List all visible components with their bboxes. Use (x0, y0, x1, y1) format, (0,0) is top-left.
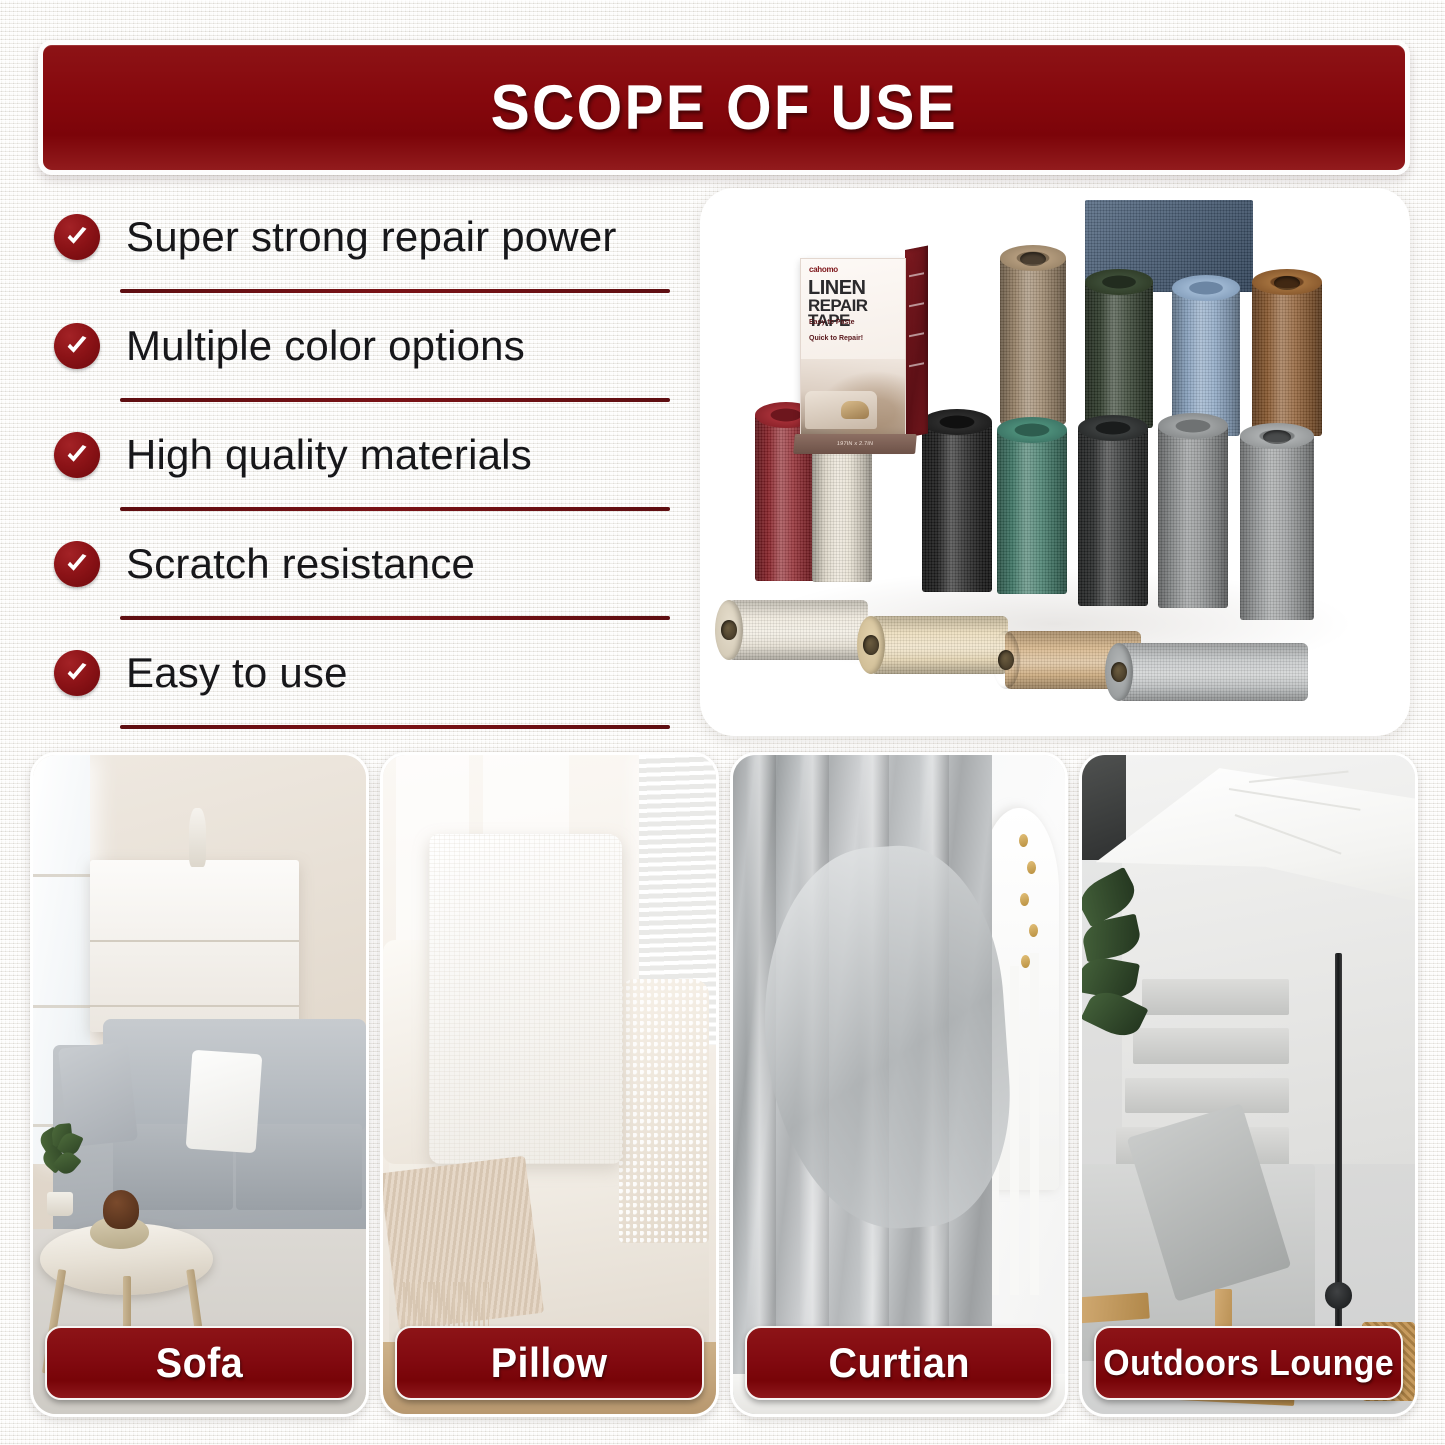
scene-label-text: Pillow (491, 1339, 608, 1387)
box-spec-text: 197IN x 2.7IN (837, 441, 874, 447)
product-box: cahomo LINEN REPAIR TAPE Easy to Paste Q… (800, 250, 928, 446)
feature-item: Easy to use (44, 632, 684, 741)
feature-label: High quality materials (126, 431, 532, 479)
check-circle-icon (54, 541, 100, 587)
feature-divider (120, 725, 670, 729)
outdoors-scene-art (1082, 755, 1415, 1414)
beige-roll (870, 616, 1008, 674)
features-list: Super strong repair power Multiple color… (44, 196, 684, 744)
light-gray-roll (1240, 434, 1314, 620)
brown-roll (1252, 280, 1322, 436)
scene-label-text: Sofa (156, 1339, 243, 1387)
dark-green-roll (1085, 280, 1153, 428)
check-circle-icon (54, 432, 100, 478)
feature-label: Super strong repair power (126, 213, 617, 261)
feature-label: Multiple color options (126, 322, 525, 370)
scene-label-pillow: Pillow (395, 1326, 704, 1400)
box-photo-art (801, 359, 905, 445)
box-front-panel: cahomo LINEN REPAIR TAPE Easy to Paste Q… (800, 258, 906, 446)
ivory-roll (728, 600, 868, 660)
box-tagline-1: Easy to Paste (809, 319, 855, 326)
scene-label-outdoors-lounge: Outdoors Lounge (1094, 1326, 1403, 1400)
feature-item: Multiple color options (44, 305, 684, 414)
header-banner: SCOPE OF USE (38, 40, 1410, 175)
page-title: SCOPE OF USE (490, 72, 957, 144)
pillow-scene-art (383, 755, 716, 1414)
feature-label: Scratch resistance (126, 540, 475, 588)
feature-divider (120, 289, 670, 293)
scene-panel-curtain[interactable]: Curtian (730, 752, 1069, 1417)
taupe-roll (1000, 256, 1066, 424)
scene-label-sofa: Sofa (45, 1326, 354, 1400)
scene-panel-sofa[interactable]: Sofa (30, 752, 369, 1417)
box-title-line1: LINEN (808, 279, 900, 298)
check-circle-icon (54, 650, 100, 696)
box-side-panel (905, 246, 928, 438)
feature-divider (120, 616, 670, 620)
teal-green-roll (997, 428, 1067, 594)
gray-roll (1158, 424, 1228, 608)
scene-label-curtain: Curtian (745, 1326, 1054, 1400)
product-photo-card: cahomo LINEN REPAIR TAPE Easy to Paste Q… (700, 188, 1410, 736)
brand-logo: cahomo (809, 265, 838, 274)
feature-item: High quality materials (44, 414, 684, 523)
box-tagline-2: Quick to Repair! (809, 335, 863, 342)
check-circle-icon (54, 214, 100, 260)
feature-label: Easy to use (126, 649, 348, 697)
feature-divider (120, 507, 670, 511)
feature-item: Scratch resistance (44, 523, 684, 632)
check-circle-icon (54, 323, 100, 369)
scene-panels: Sofa Pillow (30, 752, 1418, 1417)
feature-divider (120, 398, 670, 402)
black-roll (922, 420, 992, 592)
box-bottom-label: 197IN x 2.7IN (793, 434, 917, 454)
sofa-scene-art (33, 755, 366, 1414)
scene-label-text: Outdoors Lounge (1103, 1342, 1394, 1384)
curtain-scene-art (733, 755, 1066, 1414)
scene-panel-outdoors-lounge[interactable]: Outdoors Lounge (1079, 752, 1418, 1417)
scene-label-text: Curtian (828, 1339, 969, 1387)
scene-panel-pillow[interactable]: Pillow (380, 752, 719, 1417)
feature-item: Super strong repair power (44, 196, 684, 305)
charcoal-roll (1078, 426, 1148, 606)
silver-roll (1118, 643, 1308, 701)
